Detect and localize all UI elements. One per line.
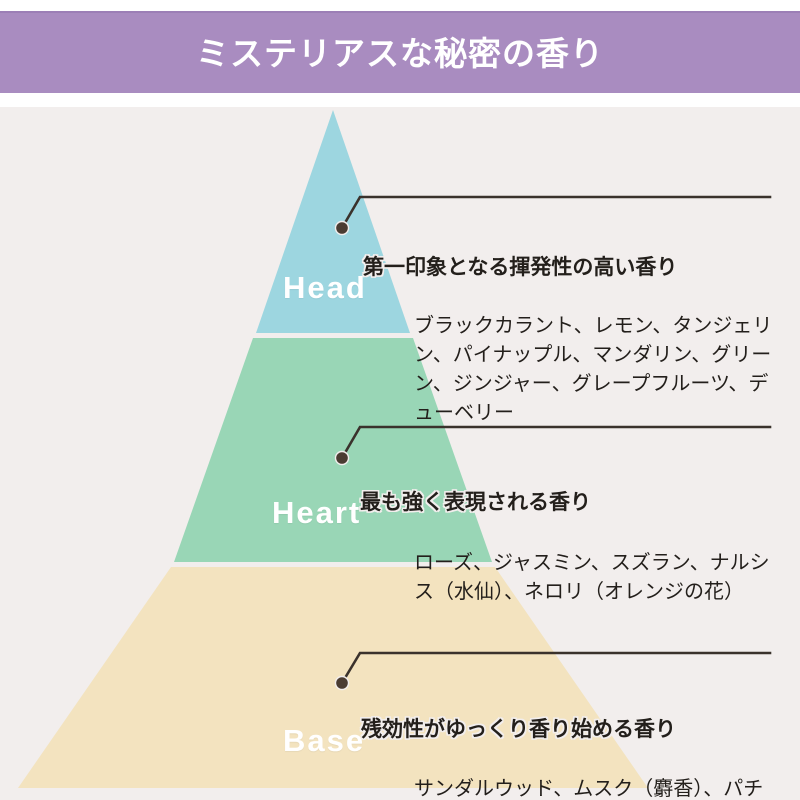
pyramid-tier-label-base: Base [283, 725, 365, 756]
pyramid-tier-label-head: Head [283, 272, 367, 303]
leader-dot-heart [336, 452, 349, 465]
pyramid-tier-label-heart: Heart [272, 497, 361, 528]
leader-dot-head [336, 222, 349, 235]
callout-notes-head: ブラックカラント、レモン、タンジェリン、パイナップル、マンダリン、グリーン、ジン… [414, 312, 774, 428]
callout-heading-head: 第一印象となる揮発性の高い香り [363, 257, 677, 278]
callout-heading-base: 残効性がゆっくり香り始める香り [361, 719, 676, 740]
page-title: ミステリアスな秘密の香り [196, 37, 604, 70]
callout-notes-base: サンダルウッド、ムスク（麝香）、パチュリ、ピーチ、バニラ [414, 775, 774, 800]
callout-notes-heart: ローズ、ジャスミン、スズラン、ナルシス（水仙）、ネロリ（オレンジの花） [414, 549, 774, 607]
page-banner: ミステリアスな秘密の香り [0, 11, 800, 93]
pyramid-graphic [0, 107, 800, 800]
leader-dot-base [336, 677, 349, 690]
fragrance-pyramid-diagram: Head Heart Base 第一印象となる揮発性の高い香り ブラックカラント… [0, 107, 800, 800]
callout-heading-heart: 最も強く表現される香り [360, 492, 591, 513]
leader-line-head [336, 197, 771, 235]
